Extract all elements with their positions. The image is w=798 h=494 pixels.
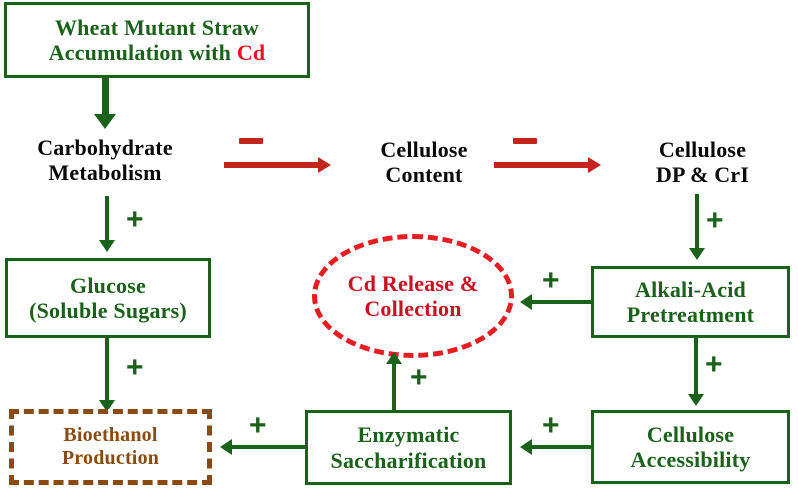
edge-glucose-to-bioethanol-line bbox=[105, 338, 109, 404]
node-cellulose-accessibility-line2: Accessibility bbox=[631, 447, 751, 472]
node-cellulose-dp-cri-line2: DP & CrI bbox=[656, 162, 749, 187]
node-cellulose-content-line2: Content bbox=[385, 162, 462, 187]
edge-saccharification-to-bioethanol-line bbox=[232, 445, 305, 449]
edge-pretreatment-to-accessibility-line bbox=[694, 338, 698, 396]
diagram-canvas: Wheat Mutant Straw Accumulation with Cd … bbox=[0, 0, 798, 494]
edge-pretreatment-to-cd-release-line bbox=[532, 300, 592, 304]
node-cellulose-dp-cri: Cellulose DP & CrI bbox=[625, 134, 780, 190]
edge-straw-to-carbohydrate-line bbox=[102, 78, 109, 116]
node-bioethanol-production: Bioethanol Production bbox=[9, 409, 212, 485]
edge-pretreatment-to-cd-release-arrowhead bbox=[520, 294, 532, 310]
edge-carbohydrate-to-glucose-line bbox=[105, 196, 109, 242]
node-cd-release-collection-line2: Collection bbox=[364, 296, 461, 321]
edge-pretreatment-to-accessibility-arrowhead bbox=[688, 394, 704, 406]
node-cellulose-accessibility: Cellulose Accessibility bbox=[591, 410, 790, 484]
node-glucose: Glucose (Soluble Sugars) bbox=[5, 258, 211, 338]
node-alkali-acid-pretreatment-line1: Alkali-Acid bbox=[635, 277, 746, 302]
edge-glucose-to-bioethanol-plus-sign: + bbox=[126, 353, 144, 383]
edge-carbohydrate-to-cellulose-content-minus-sign bbox=[239, 138, 263, 144]
node-carbohydrate-metabolism-line1: Carbohydrate bbox=[37, 135, 173, 160]
edge-saccharification-to-bioethanol-arrowhead bbox=[220, 439, 232, 455]
edge-accessibility-to-saccharification-line bbox=[532, 445, 592, 449]
node-cd-release-collection: Cd Release & Collection bbox=[312, 234, 514, 358]
node-wheat-mutant-straw-line2: Accumulation with Cd bbox=[49, 40, 266, 65]
node-cellulose-content: Cellulose Content bbox=[356, 134, 492, 190]
edge-pretreatment-to-accessibility-plus-sign: + bbox=[705, 350, 723, 380]
node-wheat-mutant-straw-line1: Wheat Mutant Straw bbox=[55, 15, 259, 40]
edge-cellulose-content-to-dp-cri-line bbox=[494, 162, 590, 168]
edge-straw-to-carbohydrate-arrowhead bbox=[94, 114, 116, 129]
edge-saccharification-to-bioethanol-plus-sign: + bbox=[249, 411, 267, 441]
node-cd-release-collection-line1: Cd Release & bbox=[348, 271, 479, 296]
node-wheat-mutant-straw-line2-prefix: Accumulation with bbox=[49, 40, 237, 65]
edge-carbohydrate-to-cellulose-content-arrowhead bbox=[318, 157, 331, 173]
edge-saccharification-to-cd-release-arrowhead bbox=[386, 352, 402, 364]
node-wheat-mutant-straw-cd-highlight: Cd bbox=[237, 40, 266, 65]
edge-saccharification-to-cd-release-line bbox=[392, 362, 396, 410]
node-glucose-line2: (Soluble Sugars) bbox=[29, 298, 187, 323]
edge-saccharification-to-cd-release-plus-sign: + bbox=[410, 363, 428, 393]
edge-cellulose-content-to-dp-cri-arrowhead bbox=[588, 157, 601, 173]
node-cellulose-accessibility-line1: Cellulose bbox=[647, 422, 734, 447]
node-cellulose-content-line1: Cellulose bbox=[380, 137, 467, 162]
node-bioethanol-production-line1: Bioethanol bbox=[63, 424, 157, 447]
node-enzymatic-saccharification-line1: Enzymatic bbox=[357, 422, 459, 447]
node-enzymatic-saccharification-line2: Saccharification bbox=[331, 448, 487, 473]
node-wheat-mutant-straw: Wheat Mutant Straw Accumulation with Cd bbox=[4, 2, 310, 78]
edge-cellulose-content-to-dp-cri-minus-sign bbox=[513, 138, 537, 144]
node-glucose-line1: Glucose bbox=[70, 273, 146, 298]
node-bioethanol-production-line2: Production bbox=[62, 447, 159, 470]
edge-dp-cri-to-pretreatment-plus-sign: + bbox=[706, 206, 724, 236]
node-enzymatic-saccharification: Enzymatic Saccharification bbox=[305, 410, 512, 485]
edge-pretreatment-to-cd-release-plus-sign: + bbox=[542, 266, 560, 296]
edge-accessibility-to-saccharification-plus-sign: + bbox=[542, 411, 560, 441]
edge-dp-cri-to-pretreatment-line bbox=[695, 194, 699, 248]
node-alkali-acid-pretreatment-line2: Pretreatment bbox=[627, 302, 754, 327]
edge-dp-cri-to-pretreatment-arrowhead bbox=[689, 248, 705, 260]
node-cellulose-dp-cri-line1: Cellulose bbox=[659, 137, 746, 162]
edge-carbohydrate-to-cellulose-content-line bbox=[224, 162, 320, 168]
edge-accessibility-to-saccharification-arrowhead bbox=[520, 439, 532, 455]
node-carbohydrate-metabolism-line2: Metabolism bbox=[48, 160, 161, 185]
node-carbohydrate-metabolism: Carbohydrate Metabolism bbox=[12, 132, 198, 188]
node-alkali-acid-pretreatment: Alkali-Acid Pretreatment bbox=[591, 266, 790, 338]
edge-carbohydrate-to-glucose-plus-sign: + bbox=[126, 205, 144, 235]
edge-carbohydrate-to-glucose-arrowhead bbox=[99, 240, 115, 252]
